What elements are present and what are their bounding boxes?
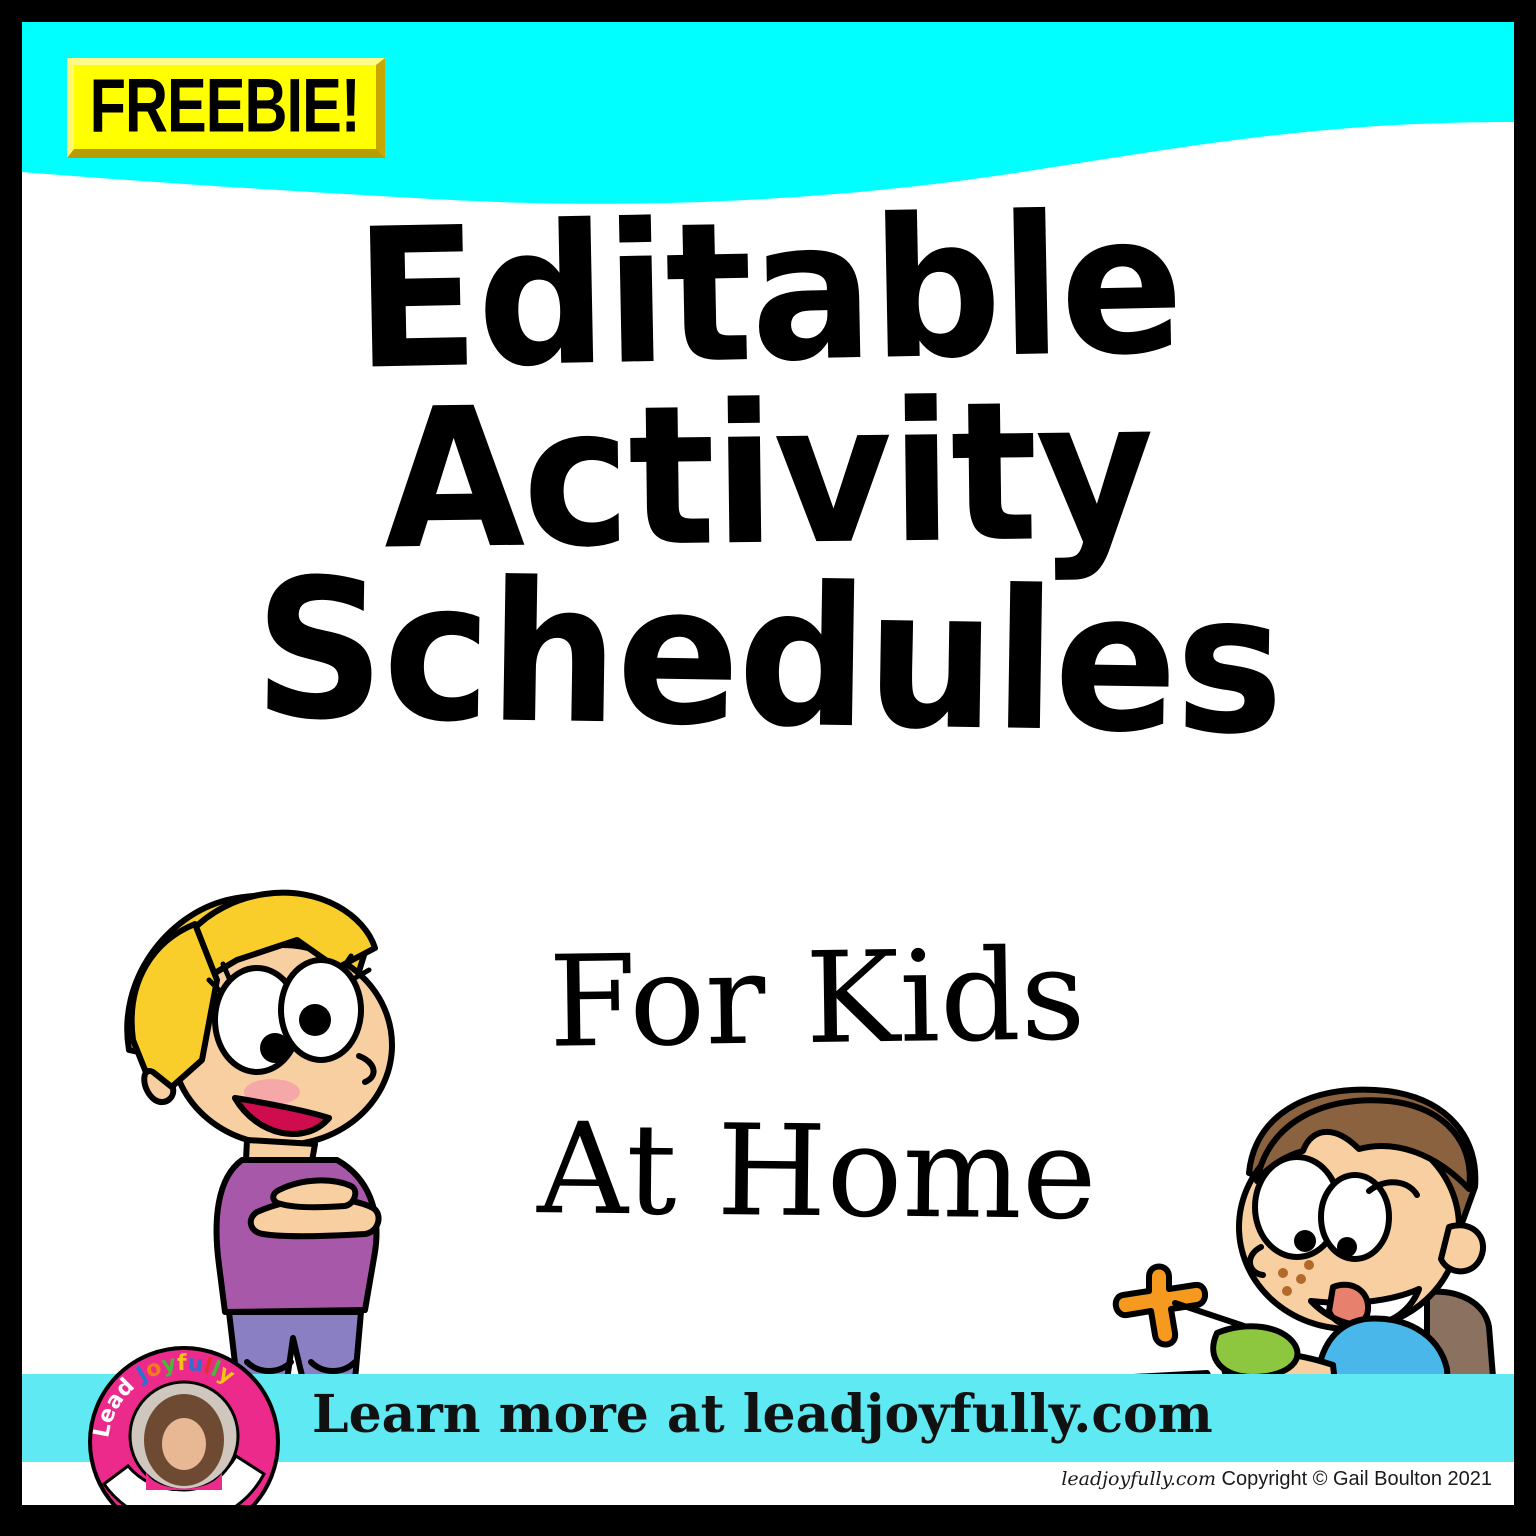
footer-cta: Learn more at leadjoyfully.com	[312, 1384, 1213, 1445]
title-line-3: Schedules	[22, 552, 1514, 763]
freebie-badge-label: FREEBIE!	[90, 69, 360, 145]
poster-canvas: FREEBIE! Editable Activity Schedules For…	[0, 0, 1536, 1536]
subtitle-line-1: For Kids	[401, 921, 1233, 1077]
girl-character-icon	[97, 860, 427, 1380]
freebie-badge: FREEBIE!	[67, 58, 385, 158]
poster-card: FREEBIE! Editable Activity Schedules For…	[22, 22, 1514, 1505]
copyright-domain: leadjoyfully.com	[1061, 1468, 1216, 1490]
copyright-text: Copyright © Gail Boulton 2021	[1222, 1468, 1492, 1490]
page-title: Editable Activity Schedules	[22, 204, 1514, 746]
lead-joyfully-logo-icon[interactable]: Lead Joyfully Gail Boulton	[86, 1344, 282, 1505]
copyright-line: leadjoyfully.com Copyright © Gail Boulto…	[1061, 1468, 1492, 1491]
